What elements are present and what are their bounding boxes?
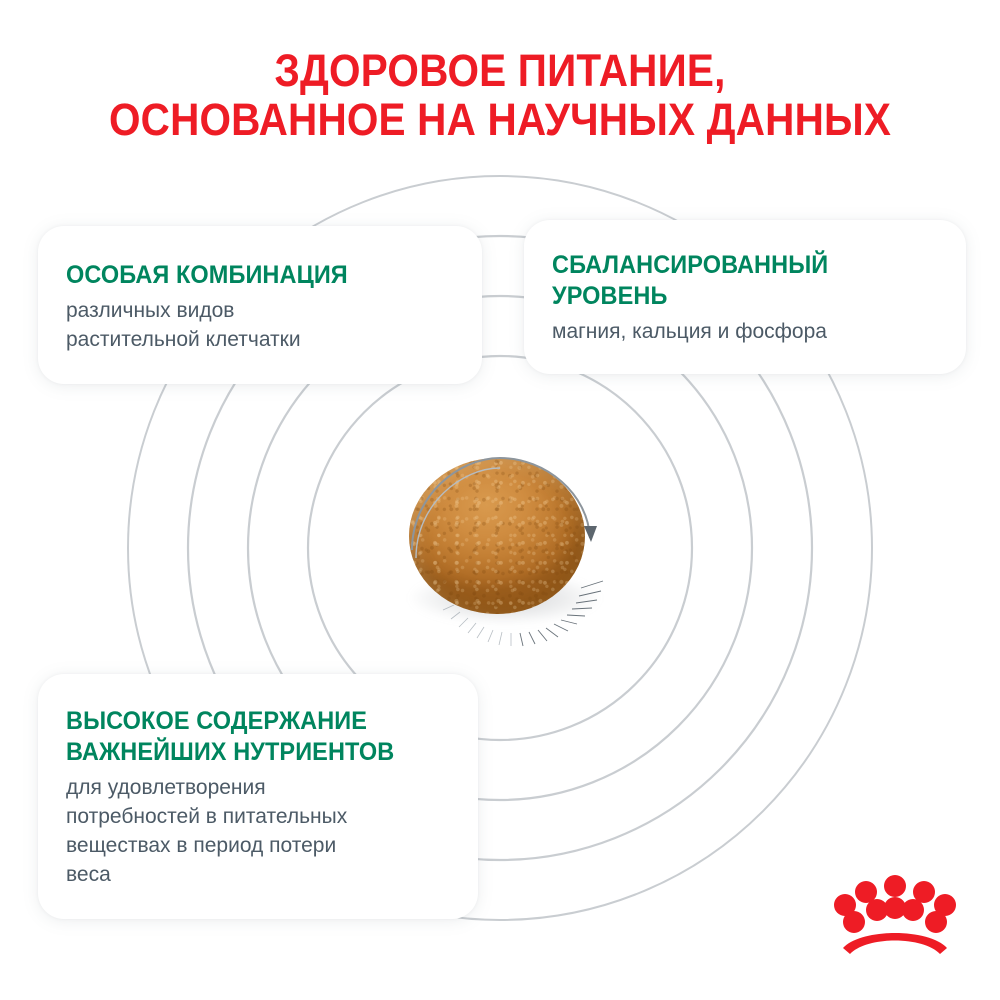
card-nutrients-heading: ВЫСОКОЕ СОДЕРЖАНИЕВАЖНЕЙШИХ НУТРИЕНТОВ (66, 706, 429, 768)
kibble-graphic (380, 440, 630, 670)
card-nutrients-body: для удовлетворенияпотребностей в питател… (66, 773, 452, 889)
info-card-nutrients: ВЫСОКОЕ СОДЕРЖАНИЕВАЖНЕЙШИХ НУТРИЕНТОВ д… (38, 674, 478, 919)
poster-canvas: ЗДОРОВОЕ ПИТАНИЕ, ОСНОВАННОЕ НА НАУЧНЫХ … (0, 0, 1000, 1000)
royal-canin-crown-icon (833, 872, 957, 956)
title-line-1: ЗДОРОВОЕ ПИТАНИЕ, (50, 46, 950, 95)
card-minerals-heading: СБАЛАНСИРОВАННЫЙУРОВЕНЬ (552, 250, 917, 312)
card-fibre-heading: ОСОБАЯ КОМБИНАЦИЯ (66, 260, 429, 291)
info-card-minerals: СБАЛАНСИРОВАННЫЙУРОВЕНЬ магния, кальция … (524, 220, 966, 374)
info-card-fibre: ОСОБАЯ КОМБИНАЦИЯ различных видоврастите… (38, 226, 482, 384)
rotation-arrow-icon (378, 438, 628, 668)
card-minerals-body: магния, кальция и фосфора (552, 317, 940, 346)
title-line-2: ОСНОВАННОЕ НА НАУЧНЫХ ДАННЫХ (50, 95, 950, 144)
card-fibre-body: различных видоврастительной клетчатки (66, 296, 452, 354)
page-title: ЗДОРОВОЕ ПИТАНИЕ, ОСНОВАННОЕ НА НАУЧНЫХ … (0, 46, 1000, 144)
